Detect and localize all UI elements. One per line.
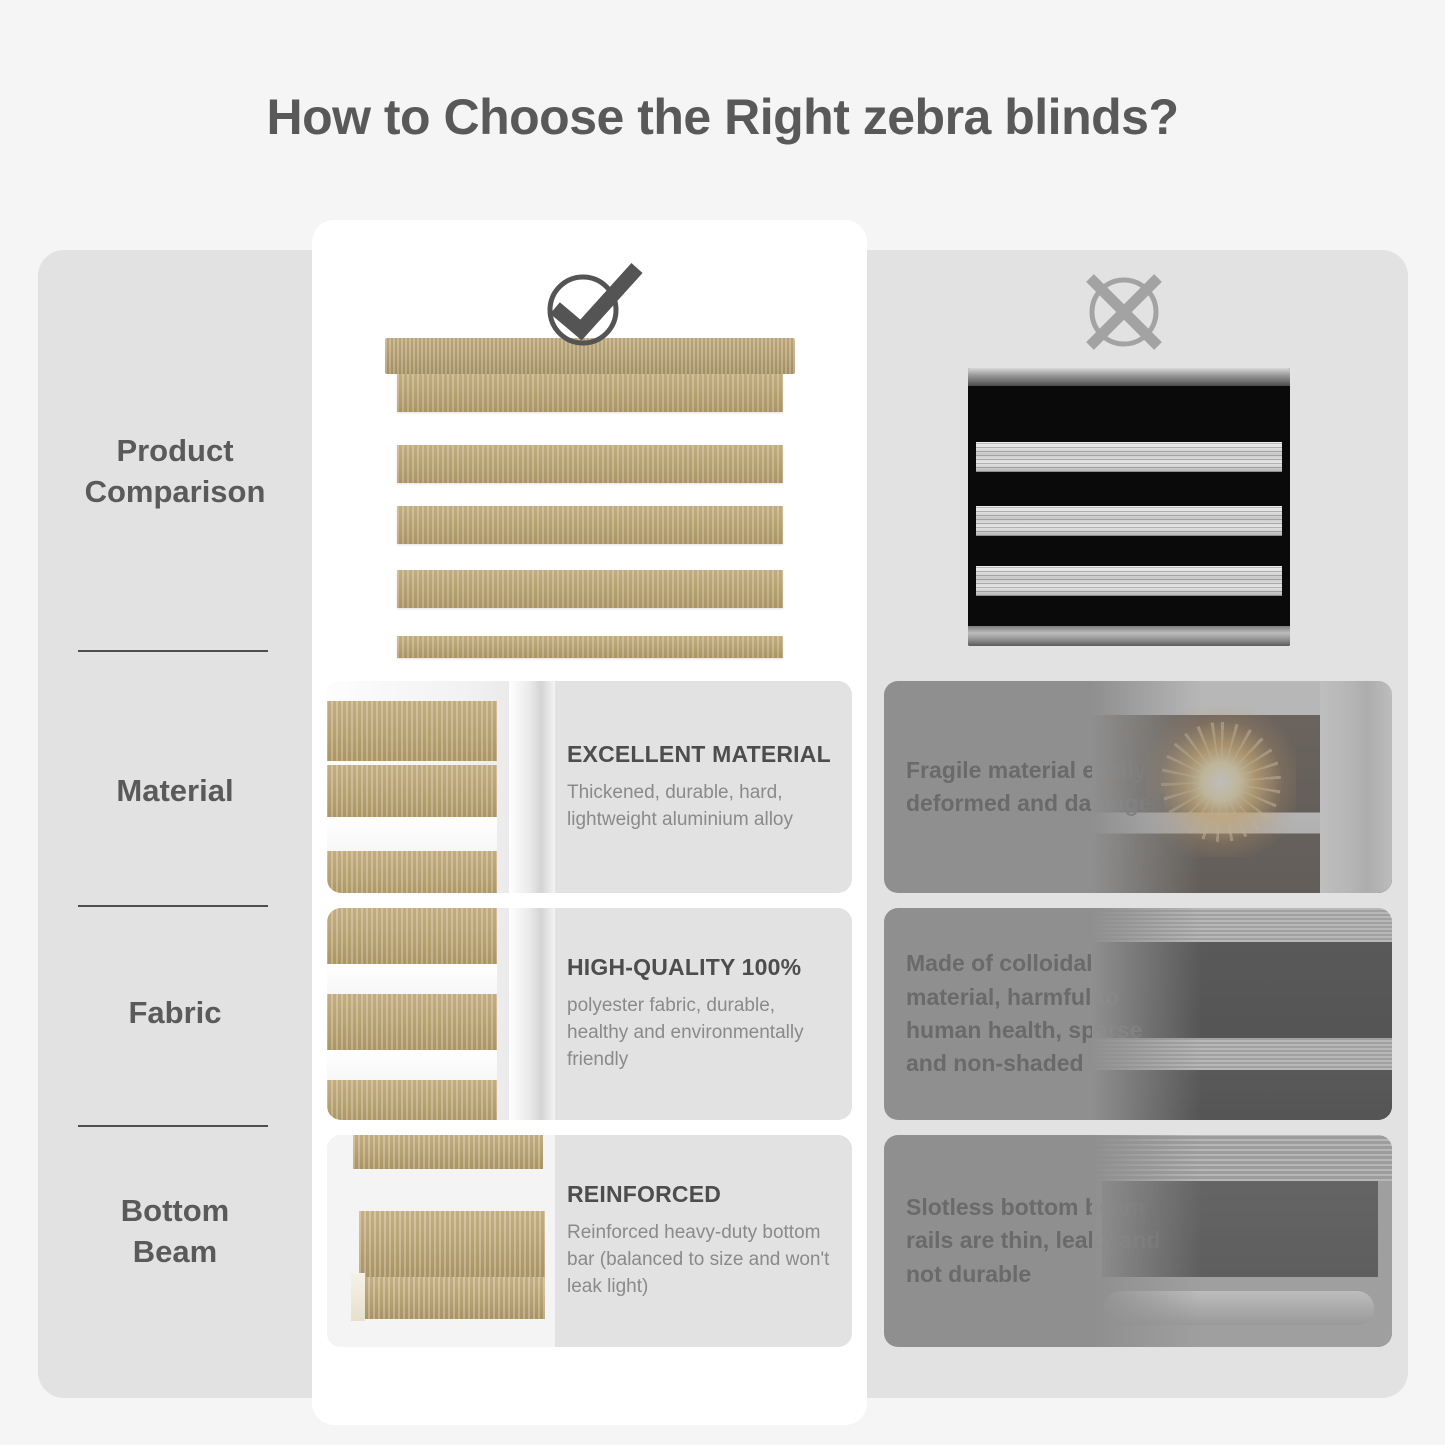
row-label-line-1: Product [38,430,312,471]
row-label-line-2: Beam [38,1231,312,1272]
blind-slat [397,506,783,544]
bottom-beam-bar [353,1277,545,1319]
blind-sheer-stripe [327,1050,497,1080]
blind-slat [397,374,783,412]
row-label-material: Material [38,770,312,811]
bottom-beam-bad-card: Slotless bottom beam rails are thin, lea… [884,1135,1392,1347]
blind-sheer-stripe [976,442,1282,472]
thin-bottom-rail-closeup-image [1092,1135,1392,1347]
blind-slat [327,701,497,761]
blind-slat [397,445,783,483]
blind-slat [359,1211,545,1277]
row-label-column: Product Comparison Material Fabric Botto… [38,250,312,1398]
material-good-description: Thickened, durable, hard, lightweight al… [567,780,838,834]
blind-sheer-stripe [327,817,497,851]
row-label-line-2: Comparison [38,471,312,512]
row-label-bottom-beam: Bottom Beam [38,1190,312,1272]
fabric-good-description: polyester fabric, durable, healthy and e… [567,993,838,1074]
cross-circle-icon [1078,268,1170,356]
fabric-good-card: HIGH-QUALITY 100% polyester fabric, dura… [327,908,852,1120]
row-divider-3 [78,1125,268,1127]
photo-left-fade [1092,681,1202,893]
page-title: How to Choose the Right zebra blinds? [0,88,1445,146]
photo-backdrop [327,1135,555,1347]
blind-bottom-rail [968,626,1290,646]
row-label-fabric: Fabric [38,992,312,1033]
tan-blind-fabric-closeup-image [327,908,555,1120]
frame-edge [509,908,555,1120]
blind-sheer-stripe [976,566,1282,596]
blind-sheer-stripe [976,506,1282,536]
fabric-good-text: HIGH-QUALITY 100% polyester fabric, dura… [567,908,838,1120]
blind-slat [397,570,783,608]
material-good-title: EXCELLENT MATERIAL [567,741,838,768]
blind-slat [327,908,497,964]
material-bad-card: Fragile material easily deformed and dam… [884,681,1392,893]
bottom-beam-good-text: REINFORCED Reinforced heavy-duty bottom … [567,1135,838,1347]
sun-flare-leaking-window-image [1092,681,1392,893]
bottom-beam-good-card: REINFORCED Reinforced heavy-duty bottom … [327,1135,852,1347]
row-divider-2 [78,905,268,907]
blind-slat [327,994,497,1050]
blind-slat [327,1080,497,1120]
blind-bottom-bar [397,636,783,658]
photo-left-fade [1092,1135,1202,1347]
material-good-text: EXCELLENT MATERIAL Thickened, durable, h… [567,681,838,893]
window-frame [1320,681,1392,893]
fabric-bad-card: Made of colloidal material, harmful to h… [884,908,1392,1120]
black-blind-sheer-closeup-image [1092,908,1392,1120]
blind-slat [353,1135,543,1169]
bottom-beam-good-description: Reinforced heavy-duty bottom bar (balanc… [567,1220,838,1301]
tan-zebra-blind-hero-image [385,338,795,663]
blind-sheer-stripe [327,964,497,994]
frame-edge [509,681,555,893]
check-circle-icon [535,258,645,350]
bottom-beam-good-title: REINFORCED [567,1181,838,1208]
fabric-good-title: HIGH-QUALITY 100% [567,954,838,981]
black-zebra-blind-hero-image [968,368,1290,646]
blind-slat [327,765,497,817]
row-label-line-1: Bottom [38,1190,312,1231]
blind-headrail [968,368,1290,386]
beam-end-cap [351,1273,365,1321]
row-label-product-comparison: Product Comparison [38,430,312,512]
material-good-card: EXCELLENT MATERIAL Thickened, durable, h… [327,681,852,893]
tan-bottom-beam-closeup-image [327,1135,555,1347]
photo-left-fade [1092,908,1202,1120]
blind-slat [327,851,497,893]
tan-blind-window-closeup-image [327,681,555,893]
row-divider-1 [78,650,268,652]
